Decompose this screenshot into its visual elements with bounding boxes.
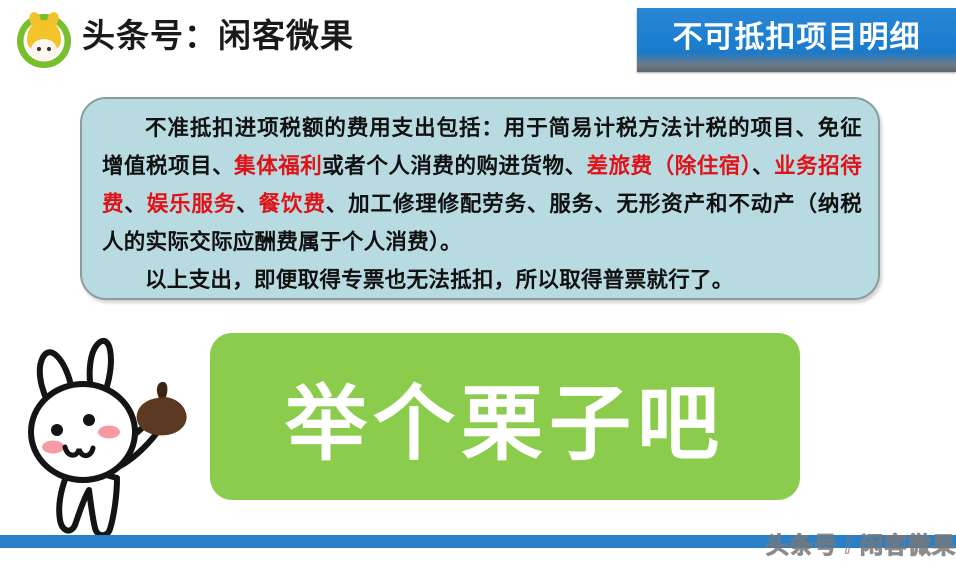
page-header: 头条号：闲客微果 不可抵扣项目明细 [0,0,956,82]
mascot-avatar-icon [13,8,75,70]
eye-right [83,414,95,426]
green-banner-label: 举个栗子吧 [210,333,800,500]
watermark: 头条号 / 闲客微果 [756,528,956,562]
eye-left [51,424,63,436]
note-text-run: 、 [124,192,146,216]
note-text-run: 、 [236,192,258,216]
rabbit-holding-chestnut-icon [5,320,210,545]
note-text-run: 或者个人消费的购进货物、 [322,154,586,178]
cheek-left [42,441,64,454]
note-box: 不准抵扣进项税额的费用支出包括：用于简易计税方法计税的项目、免征增值税项目、集体… [80,97,880,300]
green-banner: 举个栗子吧 [210,333,800,500]
section-badge: 不可抵扣项目明细 [637,8,956,72]
highlighted-term: 差旅费（除住宿） [587,154,752,178]
brand-title: 头条号：闲客微果 [82,13,354,59]
rabbit-svg [5,320,210,545]
cheek-right [98,426,120,439]
note-paragraph-2: 以上支出，即便取得专票也无法抵扣，所以取得普票就行了。 [102,261,862,299]
note-text-run: 以上支出，即便取得专票也无法抵扣，所以取得普票就行了。 [145,268,734,292]
avatar-svg [13,8,75,70]
highlighted-term: 集体福利 [234,154,322,178]
chestnut-icon [137,382,187,435]
note-paragraph-1: 不准抵扣进项税额的费用支出包括：用于简易计税方法计税的项目、免征增值税项目、集体… [102,109,862,261]
highlighted-term: 娱乐服务 [147,192,236,216]
note-text-run: 、 [752,154,774,178]
highlighted-term: 餐饮费 [259,192,326,216]
note-text: 不准抵扣进项税额的费用支出包括：用于简易计税方法计税的项目、免征增值税项目、集体… [102,109,862,299]
section-badge-label: 不可抵扣项目明细 [637,14,956,62]
